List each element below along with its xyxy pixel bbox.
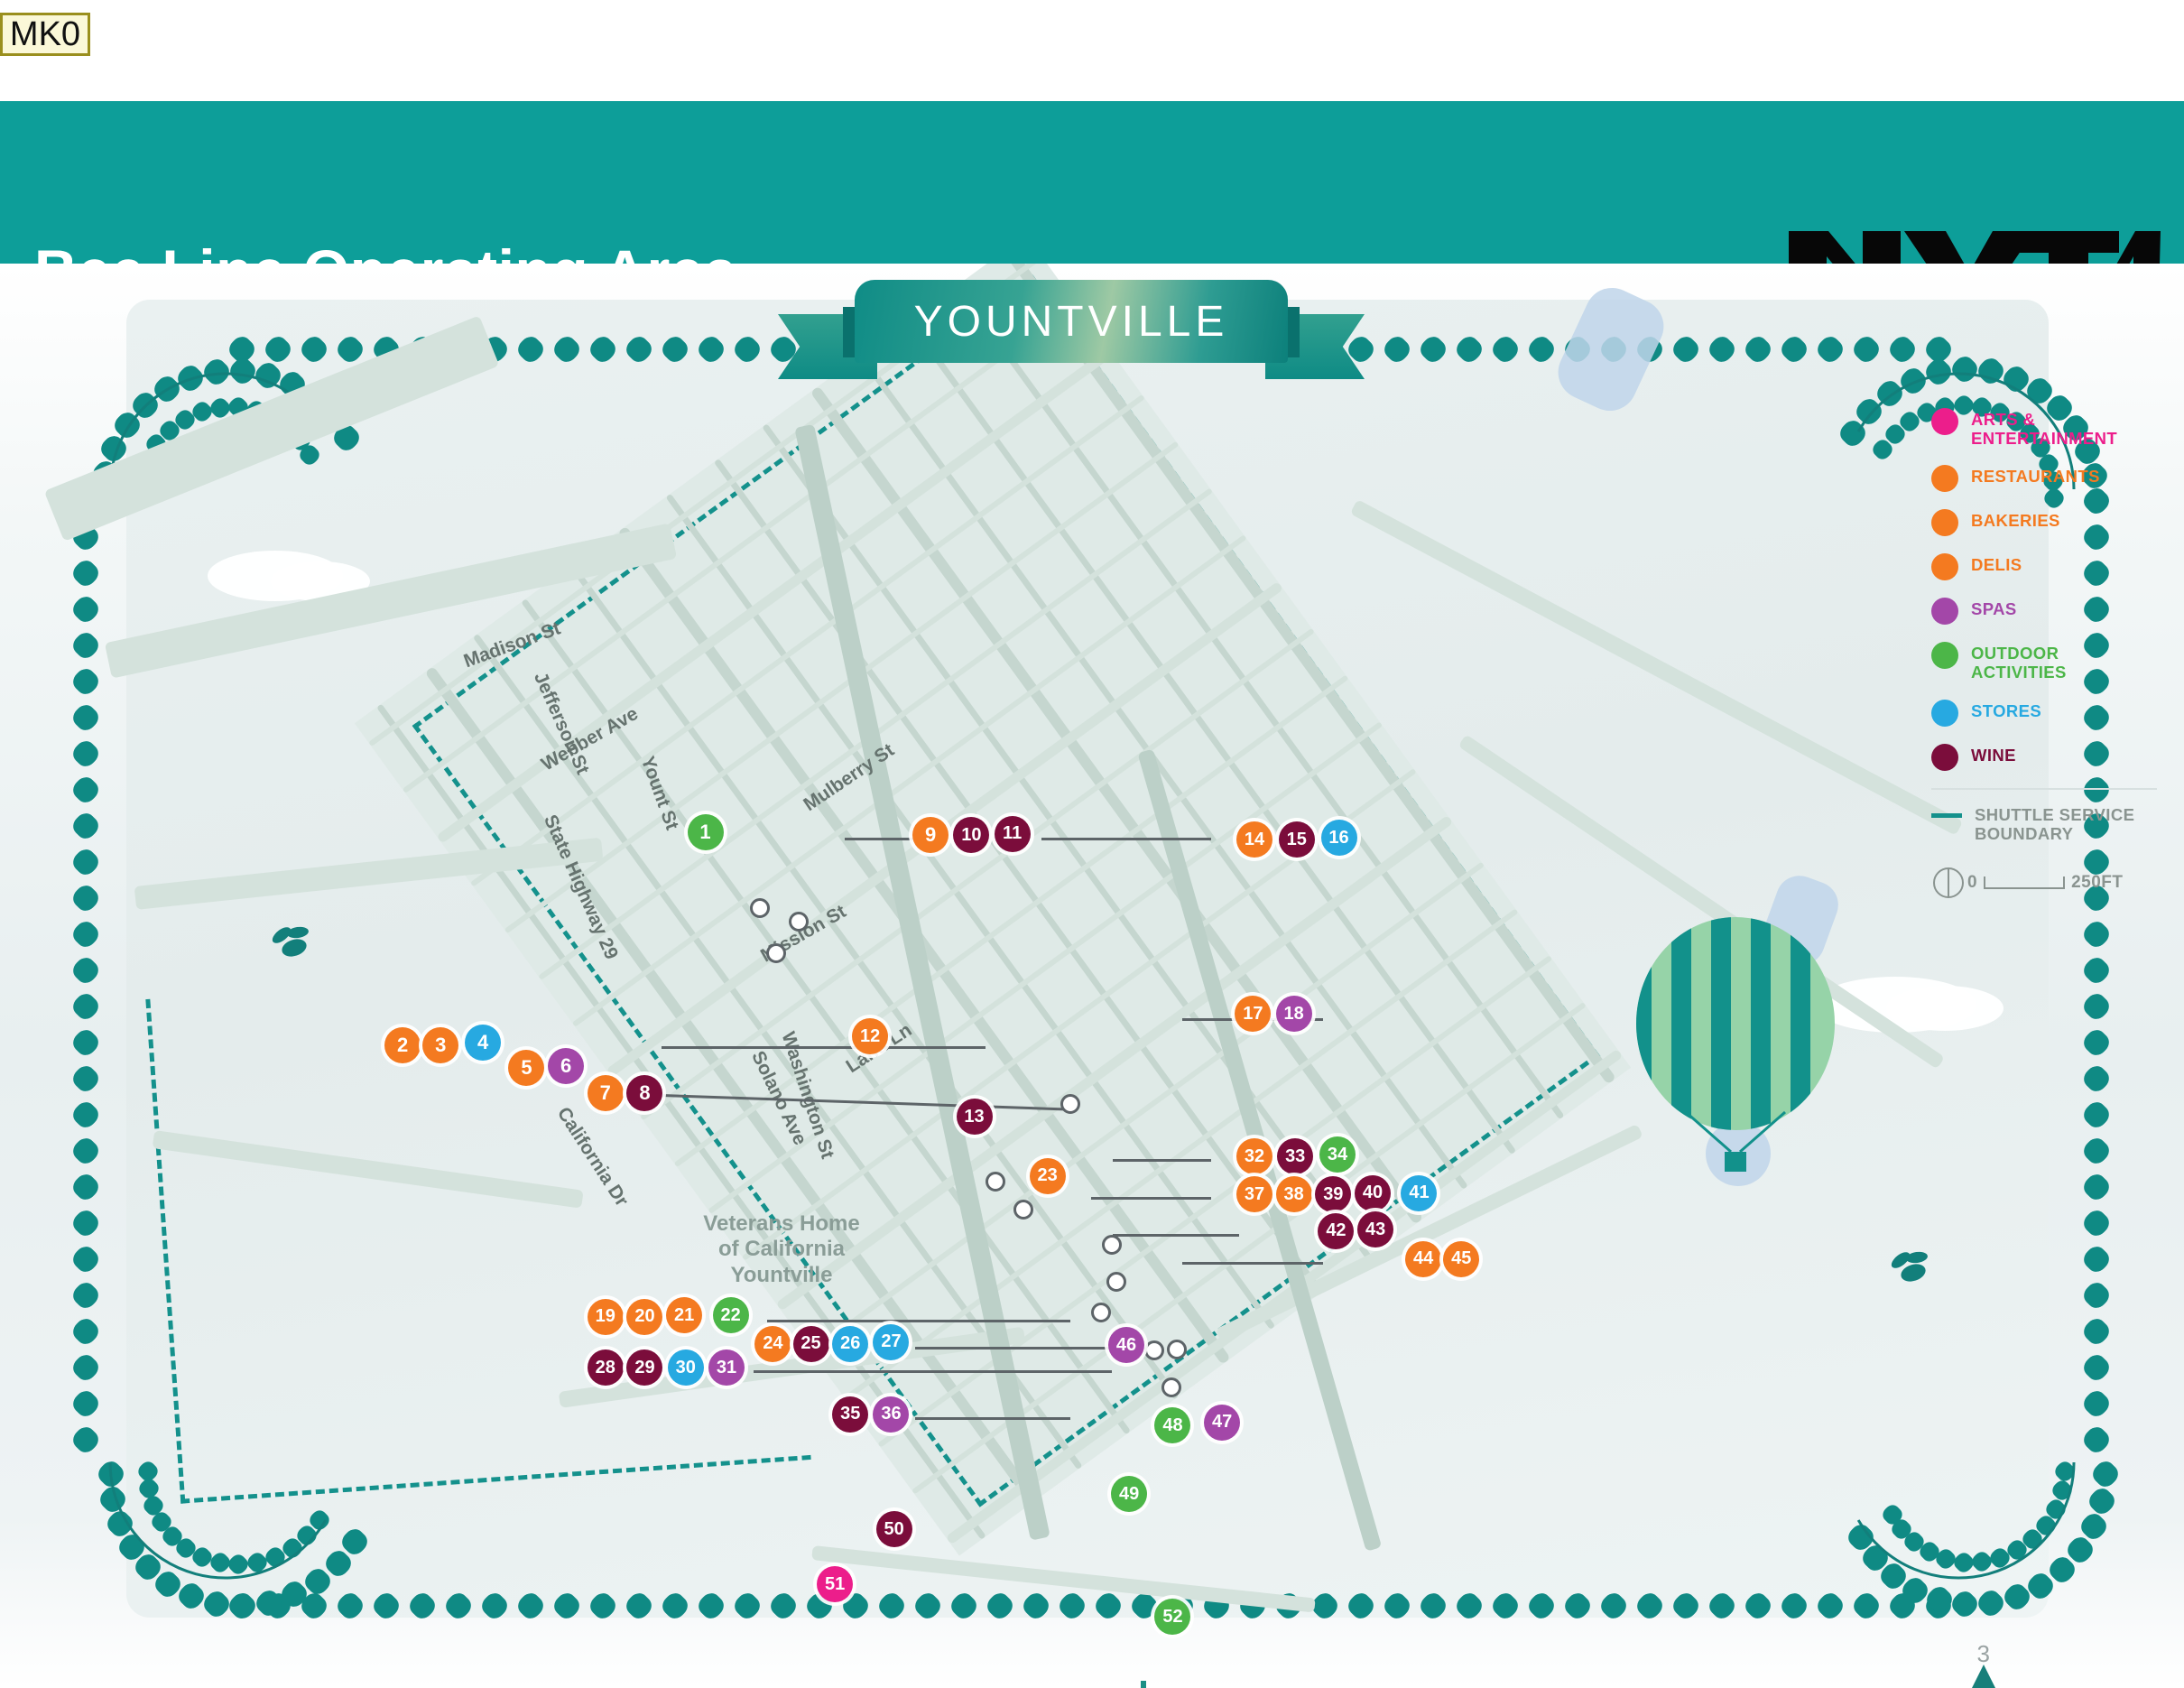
vine-leaf-icon [69, 737, 103, 771]
hot-air-balloon-illustration [1632, 915, 1839, 1191]
bus-stop-marker[interactable] [1060, 1094, 1080, 1114]
vine-leaf-icon [69, 882, 103, 915]
vine-leaf-icon [69, 1135, 103, 1168]
map-marker-13[interactable]: 13 [957, 1099, 993, 1135]
legend-item-label: WINE [1971, 744, 2016, 765]
title-bar: Bee Line Operating Area NAPA VALLEY TRAN… [0, 101, 2184, 264]
bus-stop-marker[interactable] [1167, 1340, 1187, 1359]
map-marker-5[interactable]: 5 [508, 1050, 544, 1086]
marker-leader-line [767, 1320, 1069, 1322]
legend-color-swatch [1931, 700, 1958, 727]
scale-max-label: 250FT [2071, 873, 2123, 893]
map-marker-35[interactable]: 35 [832, 1396, 868, 1433]
brick-building-illustration [1029, 1681, 1272, 1688]
vine-leaf-icon [69, 1171, 103, 1204]
vine-leaf-icon [2080, 1279, 2114, 1312]
vine-leaf-icon [2080, 1207, 2114, 1240]
legend-item-label: RESTAURANTS [1971, 465, 2100, 487]
legend-item-label: STORES [1971, 700, 2041, 721]
vine-leaf-icon [69, 665, 103, 699]
legend-color-swatch [1931, 465, 1958, 492]
map-marker-16[interactable]: 16 [1321, 820, 1357, 856]
bus-stop-marker[interactable] [1091, 1303, 1111, 1322]
map-marker-44[interactable]: 44 [1405, 1241, 1441, 1277]
legend-item-delis: DELIS [1931, 553, 2157, 580]
map-marker-32[interactable]: 32 [1236, 1138, 1272, 1174]
legend-item-label: BAKERIES [1971, 509, 2060, 531]
map-marker-52[interactable]: 52 [1154, 1599, 1190, 1635]
map-marker-22[interactable]: 22 [713, 1297, 749, 1333]
map-marker-15[interactable]: 15 [1279, 821, 1315, 858]
shuttle-boundary-label: SHUTTLE SERVICE BOUNDARY [1975, 806, 2157, 843]
vine-stem-icon [1805, 1309, 2112, 1616]
map-marker-24[interactable]: 24 [754, 1326, 791, 1362]
town-banner: YOUNTVILLE [778, 280, 1365, 415]
map-marker-36[interactable]: 36 [873, 1396, 909, 1433]
bus-stop-marker[interactable] [1161, 1377, 1181, 1397]
vine-leaf-icon [69, 1279, 103, 1312]
map-marker-43[interactable]: 43 [1357, 1211, 1393, 1247]
legend-scale-bar: 0 250FT [1931, 863, 2157, 903]
compass-icon [1931, 863, 1967, 903]
vine-leaf-icon [2080, 918, 2114, 951]
legend-color-swatch [1931, 509, 1958, 536]
vine-leaf-icon [69, 954, 103, 988]
legend-item-label: OUTDOOR ACTIVITIES [1971, 642, 2157, 682]
legend-item-bakeries: BAKERIES [1931, 509, 2157, 536]
scale-bar-graphic [1984, 876, 2065, 889]
vine-leaf-icon [69, 701, 103, 735]
legend-shuttle-boundary: SHUTTLE SERVICE BOUNDARY [1931, 806, 2157, 843]
vine-leaf-icon [69, 1062, 103, 1096]
map-marker-1[interactable]: 1 [688, 814, 724, 850]
vine-leaf-icon [69, 1243, 103, 1276]
map-marker-19[interactable]: 19 [588, 1299, 624, 1335]
map-marker-31[interactable]: 31 [708, 1349, 745, 1386]
legend-color-swatch [1931, 744, 1958, 771]
vine-leaf-icon [2080, 1026, 2114, 1060]
street-line [714, 459, 1324, 1294]
map-marker-42[interactable]: 42 [1318, 1213, 1354, 1249]
map-marker-25[interactable]: 25 [793, 1326, 829, 1362]
legend-item-restaurants: RESTAURANTS [1931, 465, 2157, 492]
bus-stop-marker[interactable] [766, 943, 786, 963]
vine-leaf-icon [2080, 1243, 2114, 1276]
map-marker-14[interactable]: 14 [1236, 821, 1272, 858]
vine-leaf-icon [2080, 1099, 2114, 1132]
legend-item-stores: STORES [1931, 700, 2157, 727]
page-number: 3 [1977, 1640, 1990, 1668]
map-marker-18[interactable]: 18 [1276, 996, 1312, 1032]
legend-item-wine: WINE [1931, 744, 2157, 771]
vine-leaf-icon [69, 774, 103, 807]
legend-color-swatch [1931, 408, 1958, 435]
map-marker-38[interactable]: 38 [1276, 1176, 1312, 1212]
marker-leader-line [1112, 1234, 1238, 1237]
bee-illustration [1886, 1247, 1937, 1300]
legend-item-label: DELIS [1971, 553, 2022, 575]
legend-item-arts-entertainment: ARTS & ENTERTAINMENT [1931, 408, 2157, 448]
marker-leader-line [1041, 838, 1210, 840]
bus-stop-marker[interactable] [986, 1172, 1005, 1192]
marker-leader-line [1112, 1159, 1210, 1162]
cloud-illustration [1886, 986, 2004, 1031]
map-marker-47[interactable]: 47 [1204, 1405, 1240, 1441]
map-marker-45[interactable]: 45 [1443, 1241, 1479, 1277]
map-marker-28[interactable]: 28 [588, 1349, 624, 1386]
banner-town-name: YOUNTVILLE [914, 297, 1229, 347]
banner-plate: YOUNTVILLE [855, 280, 1288, 363]
vine-leaf-icon [69, 990, 103, 1024]
scale-min-label: 0 [1967, 873, 1977, 893]
marker-leader-line [662, 1046, 986, 1049]
marker-leader-line [754, 1370, 1113, 1373]
vine-leaf-icon [69, 1207, 103, 1240]
map-marker-23[interactable]: 23 [1030, 1158, 1066, 1194]
map-marker-37[interactable]: 37 [1236, 1176, 1272, 1212]
legend-item-label: SPAS [1971, 598, 2017, 619]
vine-leaf-icon [2080, 1135, 2114, 1168]
annotation-chip: MK0 [0, 13, 90, 56]
map-marker-41[interactable]: 41 [1401, 1175, 1437, 1211]
map-marker-46[interactable]: 46 [1108, 1327, 1144, 1363]
map-marker-11[interactable]: 11 [995, 816, 1031, 852]
legend-color-swatch [1931, 598, 1958, 625]
legend-item-label: ARTS & ENTERTAINMENT [1971, 408, 2157, 448]
vine-leaf-icon [69, 1026, 103, 1060]
legend-color-swatch [1931, 553, 1958, 580]
pine-trees-illustration [1877, 1654, 2049, 1688]
bus-stop-marker[interactable] [789, 912, 809, 932]
legend-item-spas: SPAS [1931, 598, 2157, 625]
map-marker-3[interactable]: 3 [422, 1027, 458, 1063]
map-marker-2[interactable]: 2 [384, 1027, 421, 1063]
vine-leaf-icon [2080, 1062, 2114, 1096]
vine-leaf-icon [69, 810, 103, 843]
marker-leader-line [1091, 1197, 1211, 1200]
map-marker-33[interactable]: 33 [1277, 1138, 1313, 1174]
shuttle-boundary-swatch [1931, 813, 1962, 818]
legend-color-swatch [1931, 642, 1958, 669]
marker-leader-line [1182, 1262, 1323, 1265]
vine-leaf-icon [2080, 1171, 2114, 1204]
vine-leaf-icon [69, 846, 103, 879]
veterans-home-label: Veterans Home of California Yountville [682, 1211, 881, 1288]
marker-leader-line [915, 1347, 1141, 1349]
map-marker-50[interactable]: 50 [876, 1511, 912, 1547]
legend-item-outdoor-activities: OUTDOOR ACTIVITIES [1931, 642, 2157, 682]
bee-illustration [267, 923, 318, 975]
vine-leaf-icon [69, 918, 103, 951]
vine-leaf-icon [69, 1099, 103, 1132]
vine-leaf-icon [2080, 954, 2114, 988]
map-marker-4[interactable]: 4 [465, 1025, 501, 1061]
yountville-map: Madison StJefferson StWebber AveYount St… [0, 264, 2184, 1688]
vine-leaf-icon [2080, 990, 2114, 1024]
map-legend: ARTS & ENTERTAINMENTRESTAURANTSBAKERIESD… [1931, 408, 2157, 903]
map-marker-7[interactable]: 7 [588, 1075, 624, 1111]
map-marker-40[interactable]: 40 [1355, 1175, 1391, 1211]
map-marker-30[interactable]: 30 [668, 1349, 704, 1386]
bus-stop-marker[interactable] [1106, 1272, 1126, 1292]
legend-divider [1931, 788, 2157, 790]
marker-leader-line [915, 1417, 1070, 1420]
map-marker-26[interactable]: 26 [832, 1326, 868, 1362]
